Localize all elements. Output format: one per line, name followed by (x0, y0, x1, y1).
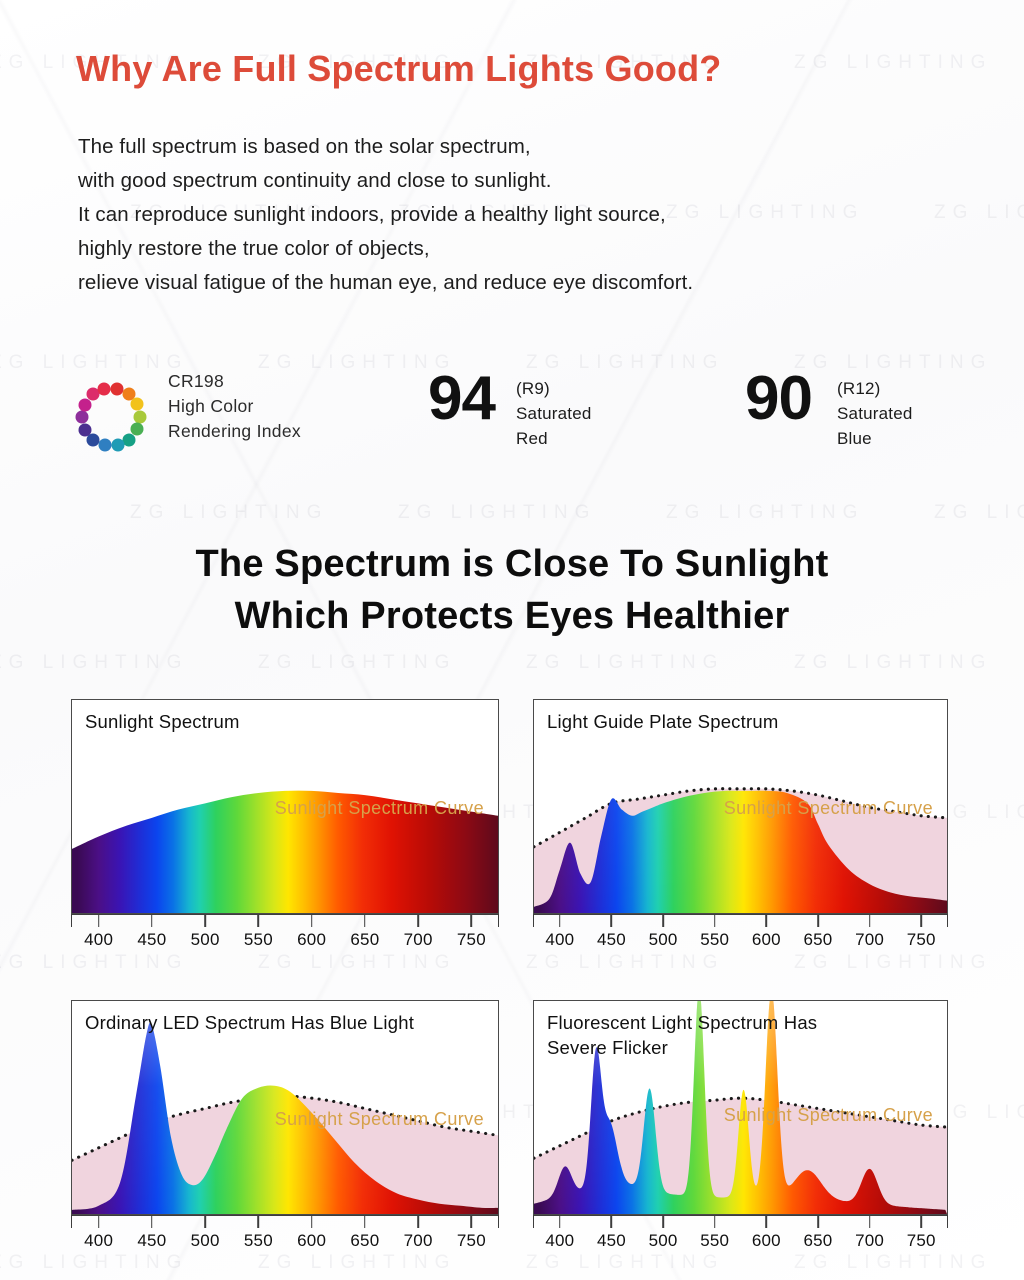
axis-tick (204, 1216, 206, 1228)
color-wheel-dot (133, 410, 146, 423)
ordinary-led-spectrum-axis: 400 450 500 550 600 650 700 750 (71, 1215, 499, 1267)
axis-tick (98, 1216, 100, 1228)
section-heading: The Spectrum is Close To Sunlight Which … (0, 538, 1024, 642)
axis-tick (817, 1216, 819, 1228)
axis-tick-label: 750 (907, 1231, 936, 1251)
axis-tick-label: 450 (597, 930, 626, 950)
axis-tick-label: 450 (137, 1231, 166, 1251)
axis-bar: 400 450 500 550 600 650 700 750 (71, 914, 499, 927)
color-wheel-dot (98, 382, 111, 395)
cri-caption: CR198 High Color Rendering Index (168, 369, 301, 444)
axis-tick-label: 650 (803, 930, 832, 950)
color-wheel-dot (76, 411, 89, 424)
axis-tick-label: 550 (244, 930, 273, 950)
axis-tick (662, 1216, 664, 1228)
ordinary-led-spectrum-title: Ordinary LED Spectrum Has Blue Light (85, 1010, 414, 1035)
sunlight-spectrum-curve-label: Sunlight Spectrum Curve (275, 798, 484, 819)
color-wheel-icon (72, 378, 150, 456)
axis-tick-label: 400 (84, 1231, 113, 1251)
axis-tick (417, 915, 419, 927)
axis-tick-label: 500 (649, 1231, 678, 1251)
stat-r9-code: (R9) (516, 376, 592, 401)
stat-r12-meta: (R12) Saturated Blue (837, 376, 913, 451)
axis-tick-label: 700 (855, 1231, 884, 1251)
axis-tick (364, 1216, 366, 1228)
intro-line-3: It can reproduce sunlight indoors, provi… (78, 198, 693, 232)
color-wheel-dot (78, 423, 91, 436)
axis-tick (559, 1216, 561, 1228)
axis-tick (662, 915, 664, 927)
stat-r12-value: 90 (745, 368, 812, 430)
color-wheel-dot (98, 439, 111, 452)
axis-tick (920, 915, 922, 927)
ordinary-led-spectrum-curve-label: Sunlight Spectrum Curve (275, 1109, 484, 1130)
fluorescent-light-spectrum-panel: Fluorescent Light Spectrum Has Severe Fl… (533, 1000, 948, 1267)
axis-tick-label: 700 (404, 1231, 433, 1251)
ordinary-led-spectrum-panel: Ordinary LED Spectrum Has Blue Light Sun… (71, 1000, 499, 1267)
axis-tick (311, 915, 313, 927)
axis-tick (714, 1216, 716, 1228)
intro-paragraph: The full spectrum is based on the solar … (78, 130, 693, 300)
axis-tick-label: 500 (191, 930, 220, 950)
axis-tick-label: 450 (597, 1231, 626, 1251)
axis-tick-label: 600 (297, 1231, 326, 1251)
light-guide-plate-spectrum-curve-label: Sunlight Spectrum Curve (724, 798, 933, 819)
axis-tick (151, 915, 153, 927)
axis-tick (817, 915, 819, 927)
fluorescent-light-spectrum-plot: Fluorescent Light Spectrum Has Severe Fl… (533, 1000, 948, 1215)
stat-r12-name: Saturated Blue (837, 401, 913, 451)
section-heading-line-1: The Spectrum is Close To Sunlight (0, 538, 1024, 590)
axis-tick (471, 1216, 473, 1228)
color-wheel-dot (123, 433, 136, 446)
axis-tick (151, 1216, 153, 1228)
axis-tick-label: 600 (752, 1231, 781, 1251)
axis-tick (766, 1216, 768, 1228)
stat-r9-meta: (R9) Saturated Red (516, 376, 592, 451)
axis-tick (98, 915, 100, 927)
stat-r9-name: Saturated Red (516, 401, 592, 451)
axis-tick-label: 400 (84, 930, 113, 950)
intro-line-5: relieve visual fatigue of the human eye,… (78, 266, 693, 300)
sunlight-spectrum-axis: 400 450 500 550 600 650 700 750 (71, 914, 499, 966)
axis-tick-label: 750 (457, 930, 486, 950)
axis-tick (611, 915, 613, 927)
axis-tick (258, 1216, 260, 1228)
fluorescent-light-spectrum-title: Fluorescent Light Spectrum Has Severe Fl… (547, 1010, 817, 1060)
axis-tick-label: 650 (803, 1231, 832, 1251)
fluorescent-light-spectrum-axis: 400 450 500 550 600 650 700 750 (533, 1215, 948, 1267)
axis-tick-label: 650 (350, 930, 379, 950)
axis-bar: 400 450 500 550 600 650 700 750 (533, 1215, 948, 1228)
section-heading-line-2: Which Protects Eyes Healthier (0, 590, 1024, 642)
axis-tick (611, 1216, 613, 1228)
light-guide-plate-spectrum-title: Light Guide Plate Spectrum (547, 709, 778, 734)
sunlight-spectrum-plot: Sunlight Spectrum Sunlight Spectrum Curv… (71, 699, 499, 914)
stat-r9-value: 94 (428, 368, 495, 430)
axis-bar: 400 450 500 550 600 650 700 750 (71, 1215, 499, 1228)
intro-line-4: highly restore the true color of objects… (78, 232, 693, 266)
ordinary-led-spectrum-plot: Ordinary LED Spectrum Has Blue Light Sun… (71, 1000, 499, 1215)
color-wheel-dot (87, 433, 100, 446)
page-title: Why Are Full Spectrum Lights Good? (76, 48, 721, 90)
sunlight-spectrum-title: Sunlight Spectrum (85, 709, 240, 734)
cri-line-2: High Color (168, 394, 301, 419)
axis-tick (869, 1216, 871, 1228)
light-guide-plate-spectrum-panel: Light Guide Plate Spectrum Sunlight Spec… (533, 699, 948, 966)
color-wheel-dot (111, 439, 124, 452)
axis-tick (869, 915, 871, 927)
axis-tick (364, 915, 366, 927)
light-guide-plate-spectrum-plot: Light Guide Plate Spectrum Sunlight Spec… (533, 699, 948, 914)
axis-tick (920, 1216, 922, 1228)
axis-tick (258, 915, 260, 927)
axis-tick (204, 915, 206, 927)
axis-tick-label: 500 (191, 1231, 220, 1251)
cri-line-3: Rendering Index (168, 419, 301, 444)
axis-bar: 400 450 500 550 600 650 700 750 (533, 914, 948, 927)
axis-tick-label: 550 (700, 1231, 729, 1251)
axis-tick-label: 400 (545, 930, 574, 950)
axis-tick (417, 1216, 419, 1228)
axis-tick-label: 700 (404, 930, 433, 950)
cri-stats-row: CR198 High Color Rendering Index 94 (R9)… (0, 372, 1024, 472)
axis-tick-label: 600 (752, 930, 781, 950)
sunlight-spectrum-panel: Sunlight Spectrum Sunlight Spectrum Curv… (71, 699, 499, 966)
axis-tick-label: 650 (350, 1231, 379, 1251)
axis-tick (766, 915, 768, 927)
axis-tick-label: 750 (907, 930, 936, 950)
axis-tick-label: 550 (700, 930, 729, 950)
intro-line-2: with good spectrum continuity and close … (78, 164, 693, 198)
axis-tick-label: 750 (457, 1231, 486, 1251)
axis-tick-label: 450 (137, 930, 166, 950)
infographic-page: Why Are Full Spectrum Lights Good? The f… (0, 0, 1024, 1280)
intro-line-1: The full spectrum is based on the solar … (78, 130, 693, 164)
stat-r12-code: (R12) (837, 376, 913, 401)
light-guide-plate-spectrum-axis: 400 450 500 550 600 650 700 750 (533, 914, 948, 966)
fluorescent-light-spectrum-curve-label: Sunlight Spectrum Curve (724, 1105, 933, 1126)
cri-code: CR198 (168, 369, 301, 394)
axis-tick (311, 1216, 313, 1228)
axis-tick (559, 915, 561, 927)
color-wheel-dot (131, 398, 144, 411)
axis-tick-label: 600 (297, 930, 326, 950)
axis-tick-label: 500 (649, 930, 678, 950)
axis-tick-label: 550 (244, 1231, 273, 1251)
axis-tick-label: 700 (855, 930, 884, 950)
axis-tick (471, 915, 473, 927)
axis-tick (714, 915, 716, 927)
axis-tick-label: 400 (545, 1231, 574, 1251)
